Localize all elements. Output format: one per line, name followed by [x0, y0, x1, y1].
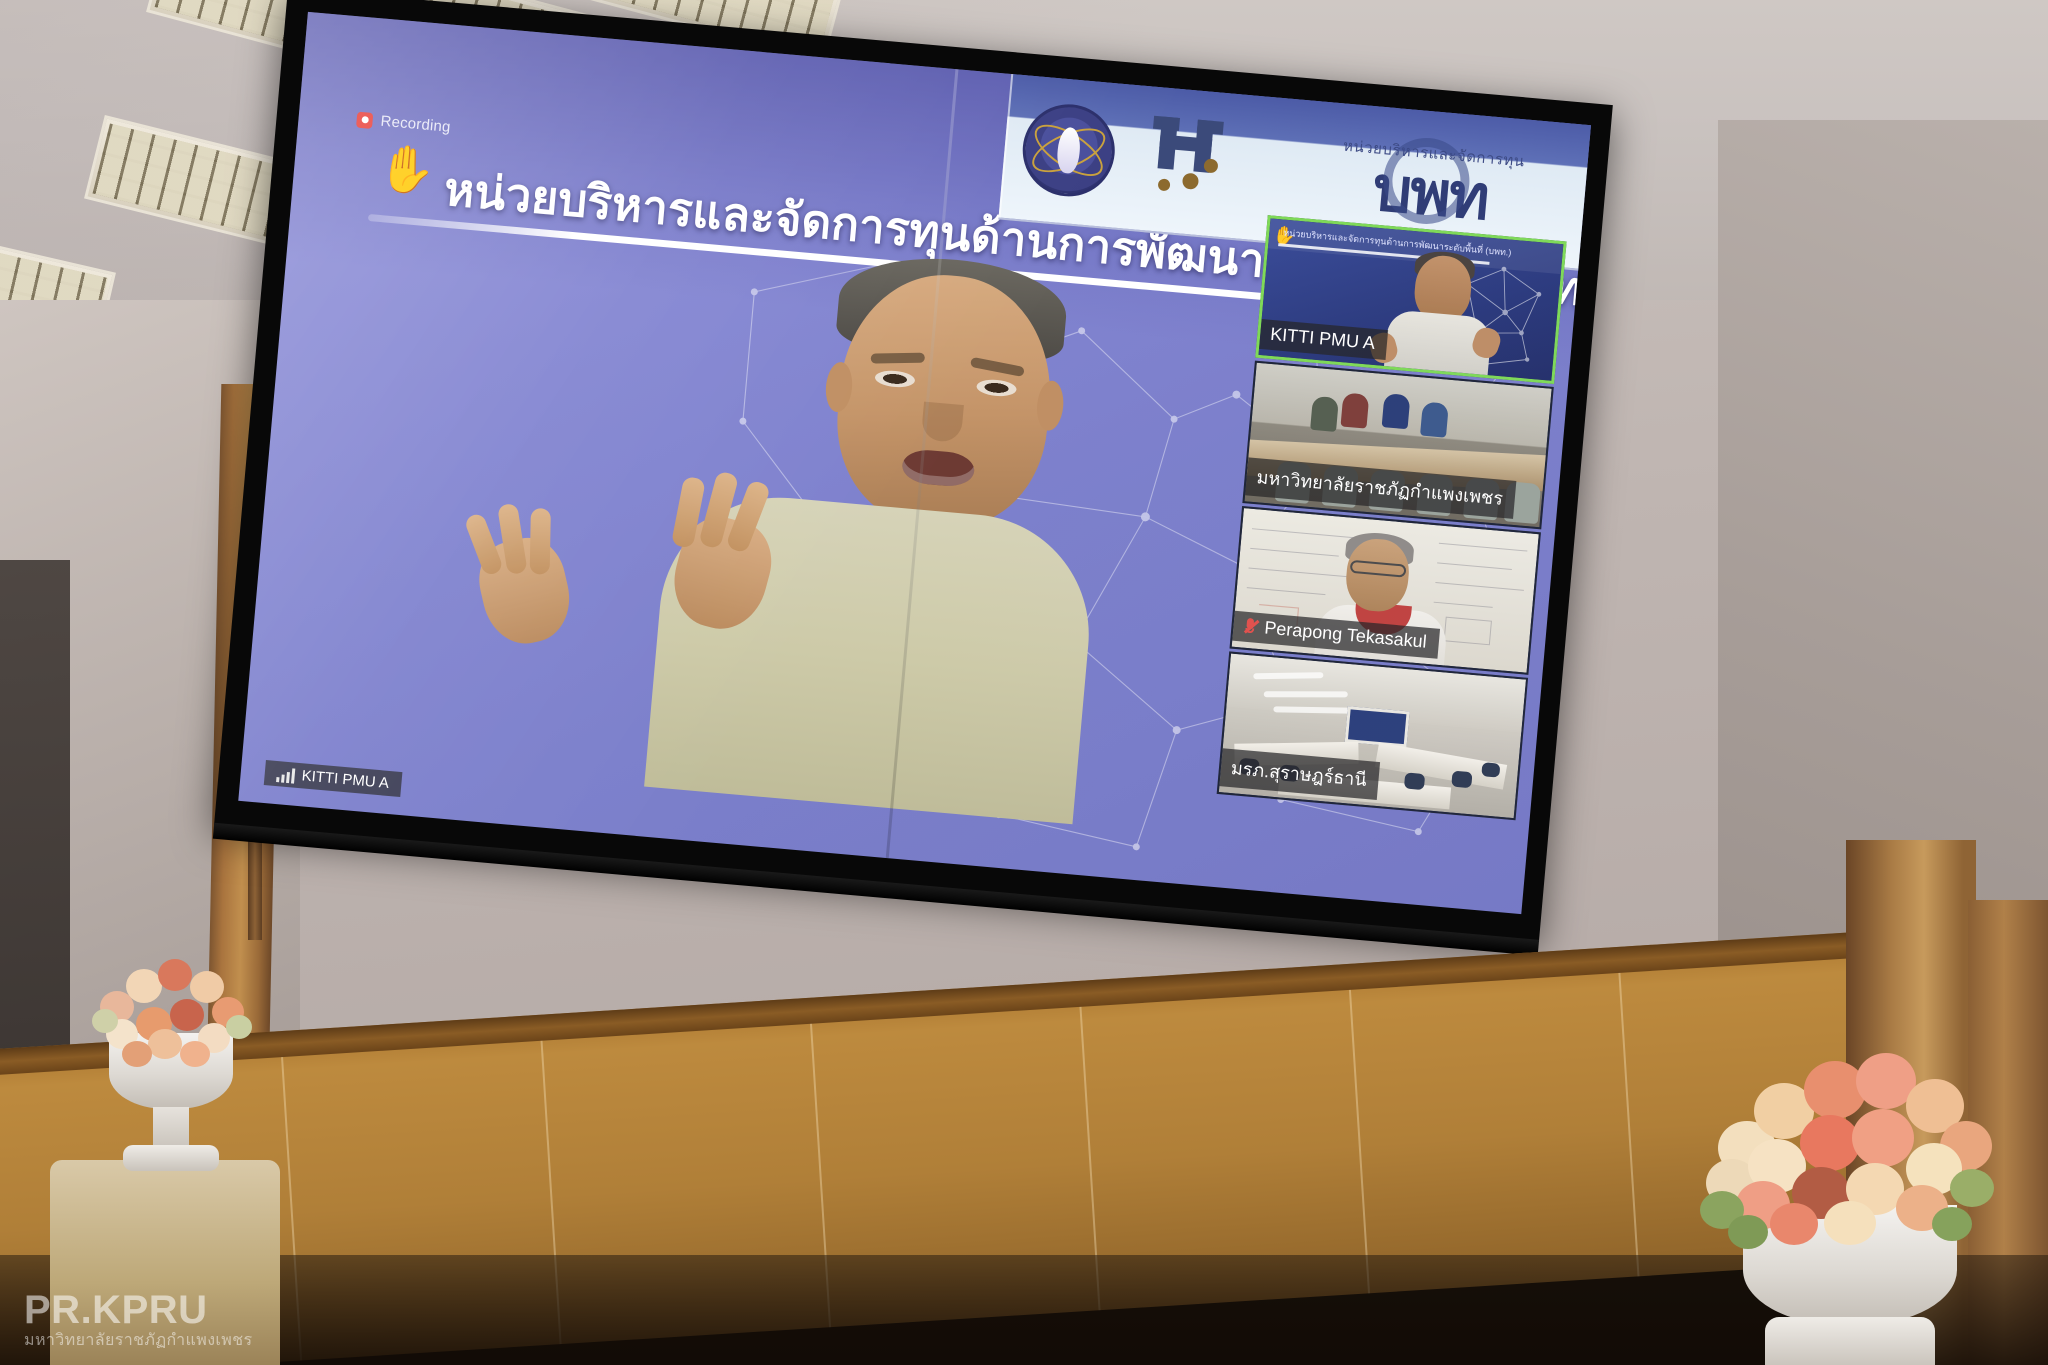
- speaker-ear-right: [1035, 380, 1065, 432]
- screenshot-scene: Recording ✋ หน่วยบริหารและจัดการทุนด้านก…: [0, 0, 2048, 1365]
- seated-person: [1310, 396, 1339, 432]
- watermark: PR.KPRU มหาวิทยาลัยราชภัฏกำแพงเพชร: [24, 1290, 253, 1349]
- seated-person: [1340, 393, 1369, 429]
- seal-flame-glyph: [1056, 126, 1082, 174]
- main-speaker-video: [444, 235, 1317, 891]
- seated-person: [1420, 401, 1449, 437]
- flower-urn-right: [1700, 1017, 2000, 1365]
- university-seal-logo: [1019, 100, 1119, 200]
- participant-tile-kitti[interactable]: ✋ หน่วยบริหารและจัดการทุนด้านการพัฒนาระด…: [1255, 215, 1566, 384]
- tile-person-figure: [1380, 251, 1501, 384]
- main-speaker-name: KITTI PMU A: [301, 767, 390, 792]
- tile-participant-name: มรภ.สุราษฎร์ธานี: [1230, 753, 1368, 794]
- participant-tile-perapong[interactable]: Perapong Tekasakul: [1230, 506, 1541, 675]
- raised-hand-icon: ✋: [377, 147, 438, 193]
- seated-person: [1382, 394, 1411, 430]
- tile-participant-name: KITTI PMU A: [1269, 324, 1375, 354]
- participant-tile-kpru[interactable]: มหาวิทยาลัยราชภัฏกำแพงเพชร: [1242, 361, 1553, 530]
- doorway-dark: [0, 560, 70, 1080]
- signal-bars-icon: [276, 766, 295, 784]
- speaker-eye-left: [874, 369, 915, 388]
- hexagon-grid-logo: [1136, 109, 1240, 213]
- screen-frame: Recording ✋ หน่วยบริหารและจัดการทุนด้านก…: [214, 0, 1613, 942]
- speaker-ear-left: [824, 361, 854, 413]
- record-dot-icon: [356, 111, 373, 128]
- mic-muted-icon: [1243, 617, 1258, 637]
- speaker-eye-right: [976, 378, 1017, 397]
- projected-image: Recording ✋ หน่วยบริหารและจัดการทุนด้านก…: [238, 12, 1591, 914]
- flower-urn-left: [86, 945, 256, 1175]
- watermark-secondary: มหาวิทยาลัยราชภัฏกำแพงเพชร: [24, 1333, 253, 1349]
- participant-tile-list: ✋ หน่วยบริหารและจัดการทุนด้านการพัฒนาระด…: [1216, 215, 1566, 823]
- watermark-primary: PR.KPRU: [24, 1290, 253, 1330]
- speaker-mouth: [901, 448, 976, 488]
- participant-tile-surat[interactable]: มรภ.สุราษฎร์ธานี: [1217, 651, 1528, 820]
